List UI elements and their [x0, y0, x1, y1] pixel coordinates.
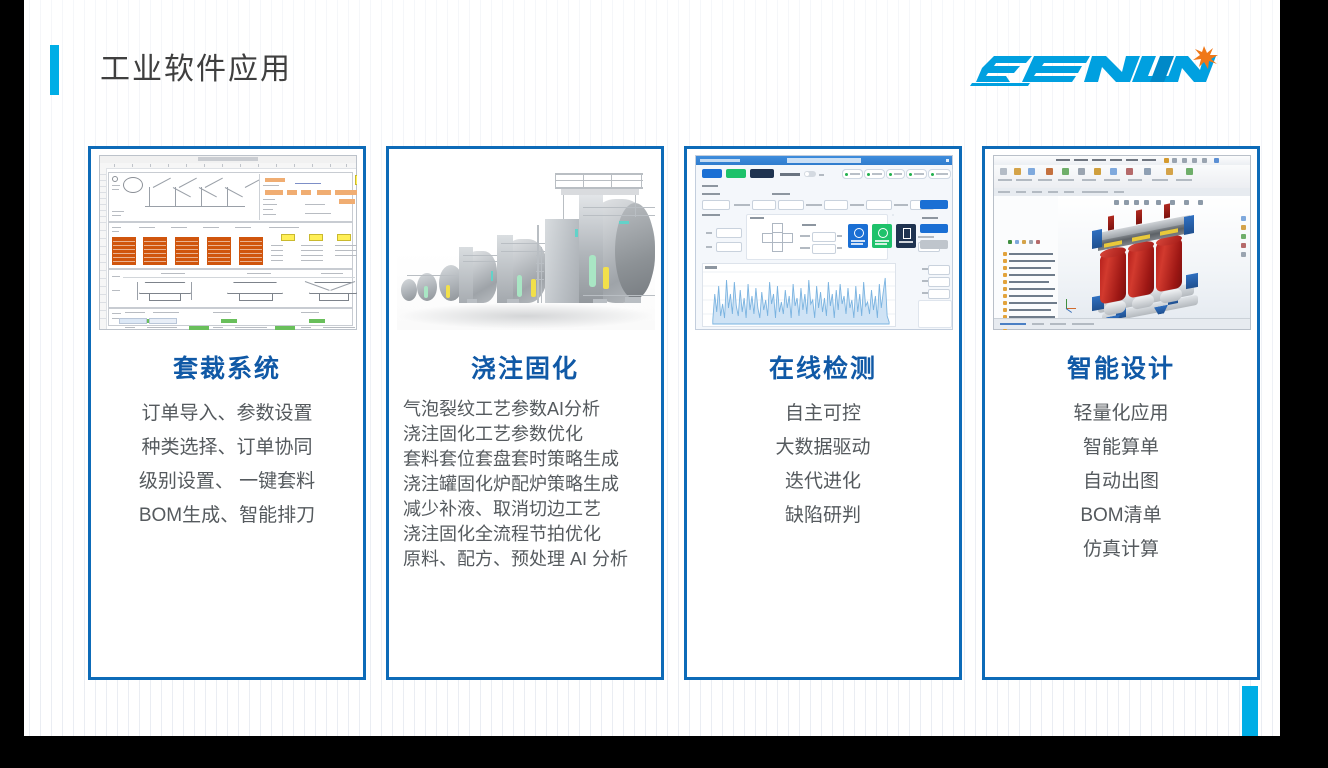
bottom-accent-bar — [1242, 686, 1258, 736]
sienline-logo — [970, 42, 1220, 94]
cad-feature-tree — [994, 196, 1059, 319]
list-item: 缺陷研判 — [693, 499, 953, 533]
list-item: BOM生成、智能排刀 — [97, 499, 357, 533]
action-tile-green — [872, 224, 892, 248]
card-online-detection[interactable]: 在线检测 自主可控 大数据驱动 迭代进化 缺陷研判 — [684, 146, 962, 680]
card-title: 套裁系统 — [91, 349, 363, 385]
thumbnail-spreadsheet-nesting — [99, 155, 357, 330]
list-item: 减少补液、取消切边工艺 — [403, 497, 655, 522]
card-feature-list: 自主可控 大数据驱动 迭代进化 缺陷研判 — [693, 397, 953, 533]
list-item: 浇注固化全流程节拍优化 — [403, 522, 655, 547]
title-accent-bar — [50, 45, 59, 95]
card-intelligent-design[interactable]: 智能设计 轻量化应用 智能算单 自动出图 BOM清单 仿真计算 — [982, 146, 1260, 680]
list-item: 轻量化应用 — [991, 397, 1251, 431]
list-item: 浇注罐固化炉配炉策略生成 — [403, 472, 655, 497]
list-item: 浇注固化工艺参数优化 — [403, 422, 655, 447]
card-title: 在线检测 — [687, 349, 959, 385]
card-feature-list: 气泡裂纹工艺参数AI分析 浇注固化工艺参数优化 套料套位套盘套时策略生成 浇注罐… — [403, 397, 655, 572]
list-item: 智能算单 — [991, 431, 1251, 465]
list-item: 原料、配方、预处理 AI 分析 — [403, 547, 655, 572]
list-item: 套料套位套盘套时策略生成 — [403, 447, 655, 472]
cad-viewport — [1058, 196, 1250, 319]
action-tile-dark — [896, 224, 916, 248]
list-item: 订单导入、参数设置 — [97, 397, 357, 431]
list-item: 迭代进化 — [693, 465, 953, 499]
card-title: 智能设计 — [985, 349, 1257, 385]
logo-svg — [970, 42, 1220, 94]
card-casting-curing[interactable]: 浇注固化 气泡裂纹工艺参数AI分析 浇注固化工艺参数优化 套料套位套盘套时策略生… — [386, 146, 664, 680]
list-item: 自动出图 — [991, 465, 1251, 499]
list-item: 气泡裂纹工艺参数AI分析 — [403, 397, 655, 422]
cad-ribbon — [994, 165, 1250, 189]
thumbnail-autoclave-render — [397, 155, 655, 330]
slide-canvas: 工业软件应用 — [24, 0, 1280, 736]
cad-status-bar — [994, 318, 1250, 329]
thumbnail-cad-transformer — [993, 155, 1251, 330]
card-nesting-system[interactable]: 套裁系统 订单导入、参数设置 种类选择、订单协同 级别设置、 一键套料 BOM生… — [88, 146, 366, 680]
thumbnail-detection-software — [695, 155, 953, 330]
logo-wordmark-icon — [970, 56, 1216, 86]
list-item: 仿真计算 — [991, 533, 1251, 567]
card-feature-list: 订单导入、参数设置 种类选择、订单协同 级别设置、 一键套料 BOM生成、智能排… — [97, 397, 357, 533]
page-title: 工业软件应用 — [100, 45, 292, 95]
app-title-bar — [696, 156, 952, 165]
list-item: 自主可控 — [693, 397, 953, 431]
card-feature-list: 轻量化应用 智能算单 自动出图 BOM清单 仿真计算 — [991, 397, 1251, 567]
list-item: BOM清单 — [991, 499, 1251, 533]
list-item: 大数据驱动 — [693, 431, 953, 465]
slide-header: 工业软件应用 — [24, 0, 1280, 118]
card-title: 浇注固化 — [389, 349, 661, 385]
list-item: 种类选择、订单协同 — [97, 431, 357, 465]
action-tile-blue — [848, 224, 868, 248]
waveform-chart — [703, 264, 895, 326]
list-item: 级别设置、 一键套料 — [97, 465, 357, 499]
